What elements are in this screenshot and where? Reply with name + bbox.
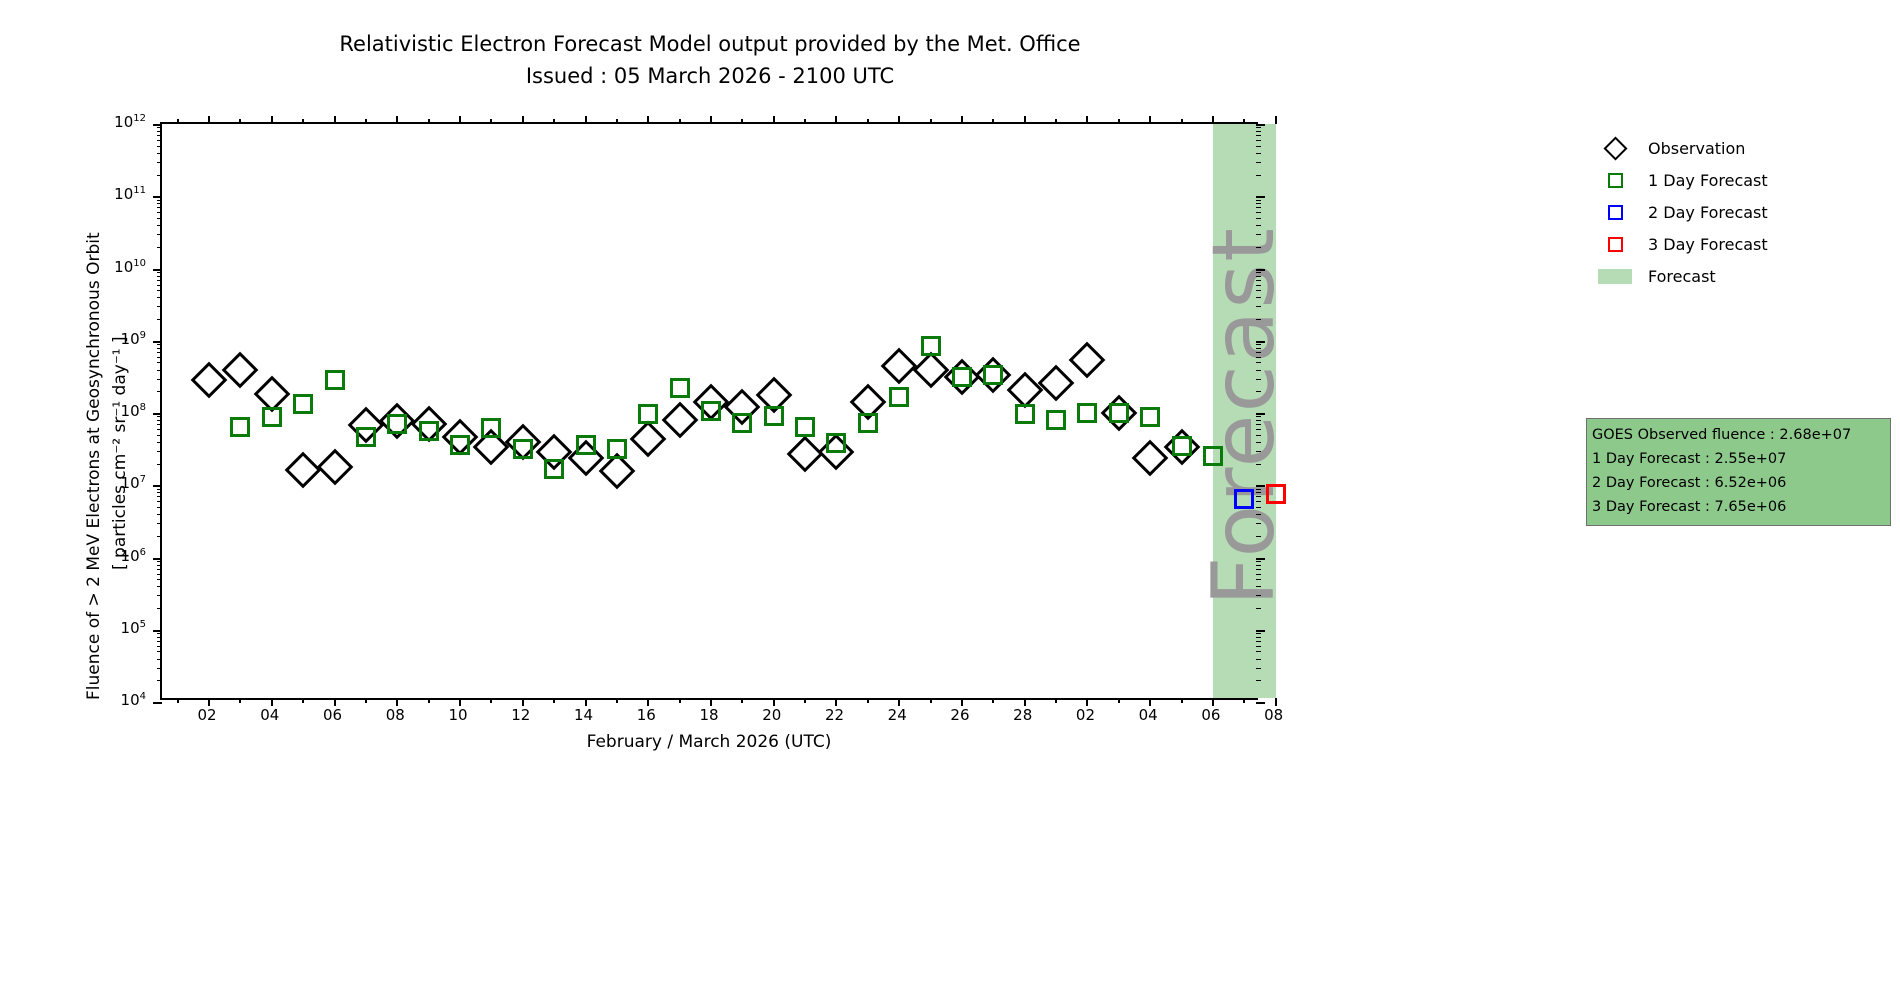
- y-tick-minor-right: [1256, 234, 1261, 235]
- y-tick-minor-right: [1256, 225, 1261, 226]
- x-tick-minor: [679, 698, 681, 703]
- x-tick-minor: [365, 698, 367, 703]
- x-tick-minor: [1055, 698, 1057, 703]
- y-tick-minor-right: [1256, 290, 1261, 291]
- y-tick-minor-right: [1256, 561, 1261, 562]
- y-tick-minor: [157, 492, 162, 493]
- y-tick-minor: [157, 225, 162, 226]
- x-tick-top: [961, 116, 963, 124]
- diamond-icon: [1603, 136, 1627, 160]
- y-tick-minor: [157, 127, 162, 128]
- x-tick-label: 16: [637, 706, 656, 724]
- y-tick-minor: [157, 290, 162, 291]
- y-tick-minor: [157, 218, 162, 219]
- y-tick-minor: [157, 569, 162, 570]
- y-tick-minor-right: [1256, 637, 1261, 638]
- y-tick-minor-right: [1256, 574, 1261, 575]
- forecast-marker: [293, 394, 313, 414]
- fluence-info-box: GOES Observed fluence : 2.68e+071 Day Fo…: [1586, 418, 1891, 526]
- x-tick-minor-top: [992, 119, 994, 124]
- y-tick-minor: [157, 442, 162, 443]
- y-tick-minor: [157, 352, 162, 353]
- y-tick-minor: [157, 146, 162, 147]
- x-tick: [1024, 698, 1026, 706]
- legend-item-diamond-black: Observation: [1592, 132, 1768, 164]
- y-tick-major: [153, 196, 162, 198]
- infobox-line: 3 Day Forecast : 7.65e+06: [1592, 495, 1885, 519]
- y-tick-minor: [157, 212, 162, 213]
- forecast-marker: [1140, 407, 1160, 427]
- y-tick-minor-right: [1256, 306, 1261, 307]
- y-tick-minor: [157, 370, 162, 371]
- x-tick-label: 08: [1264, 706, 1283, 724]
- y-tick-minor-right: [1256, 651, 1261, 652]
- x-tick-top: [1086, 116, 1088, 124]
- legend-label: Forecast: [1638, 267, 1716, 286]
- y-tick-minor: [157, 348, 162, 349]
- y-tick-minor-right: [1256, 348, 1261, 349]
- forecast-marker: [481, 418, 501, 438]
- observation-marker: [787, 436, 824, 473]
- y-tick-minor: [157, 595, 162, 596]
- y-tick-minor-right: [1256, 489, 1261, 490]
- blue-square-icon: [1608, 205, 1623, 220]
- y-tick-major: [153, 124, 162, 126]
- x-tick-minor-top: [1243, 119, 1245, 124]
- x-tick-minor-top: [490, 119, 492, 124]
- x-tick-minor-top: [741, 119, 743, 124]
- observation-marker: [222, 351, 259, 388]
- y-axis-label-line2: [ particles cm⁻² sr⁻¹ day⁻¹ ]: [110, 336, 130, 570]
- y-tick-minor-right: [1256, 247, 1261, 248]
- forecast-marker: [826, 433, 846, 453]
- y-tick-minor: [157, 435, 162, 436]
- y-tick-minor-right: [1256, 608, 1261, 609]
- y-tick-minor-right: [1256, 565, 1261, 566]
- y-tick-minor: [157, 659, 162, 660]
- x-tick-minor: [616, 698, 618, 703]
- x-tick-top: [208, 116, 210, 124]
- y-tick-minor-right: [1256, 680, 1261, 681]
- x-tick-minor-top: [177, 119, 179, 124]
- y-tick-minor-right: [1256, 344, 1261, 345]
- forecast-marker: [764, 406, 784, 426]
- x-tick: [585, 698, 587, 706]
- forecast-patch-icon: [1598, 269, 1632, 284]
- forecast-marker: [230, 417, 250, 437]
- x-tick: [647, 698, 649, 706]
- x-tick: [459, 698, 461, 706]
- y-tick-minor-right: [1256, 175, 1261, 176]
- observation-marker: [1069, 341, 1106, 378]
- forecast-marker: [638, 404, 658, 424]
- y-tick-minor-right: [1256, 391, 1261, 392]
- y-tick-minor: [157, 641, 162, 642]
- x-axis-label: February / March 2026 (UTC): [160, 732, 1258, 752]
- x-tick-top: [1212, 116, 1214, 124]
- observation-marker: [630, 420, 667, 457]
- x-tick-top: [898, 116, 900, 124]
- y-tick-minor-right: [1256, 212, 1261, 213]
- y-tick-minor: [157, 344, 162, 345]
- y-tick-minor-right: [1256, 633, 1261, 634]
- x-tick-top: [334, 116, 336, 124]
- y-tick-minor-right: [1256, 420, 1261, 421]
- x-tick-minor-top: [365, 119, 367, 124]
- y-tick-minor-right: [1256, 442, 1261, 443]
- y-tick-minor-right: [1256, 429, 1261, 430]
- forecast-watermark: Forecast: [1194, 226, 1294, 606]
- legend-item-square-red: 3 Day Forecast: [1592, 228, 1768, 260]
- observation-marker: [285, 451, 322, 488]
- x-tick-label: 26: [950, 706, 969, 724]
- y-tick-minor-right: [1256, 146, 1261, 147]
- y-tick-major-right: [1256, 702, 1265, 704]
- forecast-marker: [952, 367, 972, 387]
- observation-marker: [1132, 439, 1169, 476]
- y-tick-label: 1010: [0, 258, 146, 276]
- y-tick-minor-right: [1256, 352, 1261, 353]
- x-tick-minor: [1118, 698, 1120, 703]
- forecast-marker: [889, 387, 909, 407]
- legend: Observation1 Day Forecast2 Day Forecast3…: [1592, 132, 1768, 292]
- forecast-marker: [544, 459, 564, 479]
- y-tick-major: [153, 485, 162, 487]
- y-tick-major: [153, 630, 162, 632]
- chart-title-line1: Relativistic Electron Forecast Model out…: [0, 28, 1420, 60]
- x-tick-label: 24: [888, 706, 907, 724]
- x-tick-minor: [239, 698, 241, 703]
- x-tick-label: 12: [511, 706, 530, 724]
- y-tick-minor: [157, 501, 162, 502]
- y-tick-minor-right: [1256, 285, 1261, 286]
- y-tick-major-right: [1256, 196, 1265, 198]
- y-tick-minor-right: [1256, 668, 1261, 669]
- y-tick-minor: [157, 523, 162, 524]
- y-tick-minor-right: [1256, 569, 1261, 570]
- x-tick-top: [522, 116, 524, 124]
- x-tick-label: 18: [699, 706, 718, 724]
- y-tick-minor: [157, 319, 162, 320]
- x-tick-minor-top: [679, 119, 681, 124]
- y-tick-minor: [157, 306, 162, 307]
- green-square-icon: [1608, 173, 1623, 188]
- x-tick: [835, 698, 837, 706]
- forecast-marker: [1077, 403, 1097, 423]
- y-tick-minor: [157, 574, 162, 575]
- y-tick-minor: [157, 297, 162, 298]
- x-tick-minor-top: [553, 119, 555, 124]
- y-tick-minor: [157, 579, 162, 580]
- legend-item-patch-green: Forecast: [1592, 260, 1768, 292]
- chart-title: Relativistic Electron Forecast Model out…: [0, 28, 1420, 92]
- y-tick-minor-right: [1256, 641, 1261, 642]
- y-tick-minor-right: [1256, 131, 1261, 132]
- y-tick-minor-right: [1256, 416, 1261, 417]
- x-tick: [1086, 698, 1088, 706]
- legend-label: 3 Day Forecast: [1638, 235, 1768, 254]
- legend-item-square-green: 1 Day Forecast: [1592, 164, 1768, 196]
- chart-title-line2: Issued : 05 March 2026 - 2100 UTC: [0, 60, 1420, 92]
- plot-area: Forecast: [160, 122, 1258, 700]
- forecast-marker: [795, 417, 815, 437]
- legend-key: [1592, 164, 1638, 196]
- y-tick-minor: [157, 200, 162, 201]
- x-tick-top: [647, 116, 649, 124]
- x-tick-minor: [1181, 698, 1183, 703]
- y-tick-major: [153, 269, 162, 271]
- y-tick-label: 107: [0, 474, 146, 492]
- forecast-marker: [1015, 404, 1035, 424]
- infobox-line: GOES Observed fluence : 2.68e+07: [1592, 423, 1885, 447]
- y-tick-minor: [157, 637, 162, 638]
- x-tick-minor: [490, 698, 492, 703]
- legend-key: [1592, 196, 1638, 228]
- y-tick-major-right: [1256, 341, 1265, 343]
- y-tick-minor: [157, 651, 162, 652]
- observation-marker: [191, 361, 228, 398]
- y-tick-minor: [157, 464, 162, 465]
- y-tick-minor: [157, 420, 162, 421]
- x-tick: [773, 698, 775, 706]
- x-tick-top: [835, 116, 837, 124]
- infobox-line: 1 Day Forecast : 2.55e+07: [1592, 447, 1885, 471]
- x-tick-top: [1275, 116, 1277, 124]
- y-tick-minor: [157, 362, 162, 363]
- forecast-marker: [419, 421, 439, 441]
- y-tick-label: 109: [0, 330, 146, 348]
- x-tick-top: [459, 116, 461, 124]
- x-tick-top: [1024, 116, 1026, 124]
- y-tick-label: 108: [0, 402, 146, 420]
- rem-forecast-chart: Relativistic Electron Forecast Model out…: [0, 0, 1900, 1000]
- y-tick-minor: [157, 496, 162, 497]
- forecast-marker: [983, 365, 1003, 385]
- y-tick-minor: [157, 357, 162, 358]
- y-tick-minor-right: [1256, 153, 1261, 154]
- observation-marker: [316, 448, 353, 485]
- y-tick-minor-right: [1256, 127, 1261, 128]
- legend-key: [1592, 132, 1638, 164]
- x-tick-minor: [867, 698, 869, 703]
- y-tick-minor: [157, 207, 162, 208]
- y-tick-major-right: [1256, 269, 1265, 271]
- y-tick-label: 104: [0, 691, 146, 709]
- y-tick-major-right: [1256, 558, 1265, 560]
- x-tick-minor: [1243, 698, 1245, 703]
- forecast-marker: [576, 435, 596, 455]
- y-tick-major: [153, 558, 162, 560]
- forecast-marker: [513, 439, 533, 459]
- x-tick-label: 02: [198, 706, 217, 724]
- y-tick-minor: [157, 131, 162, 132]
- forecast-marker: [607, 439, 627, 459]
- forecast-marker: [1172, 436, 1192, 456]
- x-tick-minor-top: [930, 119, 932, 124]
- y-tick-minor: [157, 391, 162, 392]
- y-tick-minor: [157, 668, 162, 669]
- y-tick-major: [153, 341, 162, 343]
- y-tick-minor-right: [1256, 536, 1261, 537]
- x-tick-minor-top: [428, 119, 430, 124]
- y-tick-major-right: [1256, 485, 1265, 487]
- y-tick-minor: [157, 175, 162, 176]
- y-tick-minor-right: [1256, 357, 1261, 358]
- forecast-marker: [262, 407, 282, 427]
- x-tick: [334, 698, 336, 706]
- x-tick-label: 28: [1013, 706, 1032, 724]
- legend-key: [1592, 228, 1638, 260]
- x-tick-minor-top: [867, 119, 869, 124]
- y-tick-minor: [157, 162, 162, 163]
- y-tick-minor: [157, 507, 162, 508]
- forecast-marker: [1046, 410, 1066, 430]
- forecast-marker: [1203, 446, 1223, 466]
- legend-label: Observation: [1638, 139, 1745, 158]
- x-tick-top: [396, 116, 398, 124]
- y-tick-minor: [157, 203, 162, 204]
- y-tick-minor-right: [1256, 646, 1261, 647]
- y-tick-minor: [157, 416, 162, 417]
- forecast-marker: [858, 413, 878, 433]
- forecast-marker: [1109, 403, 1129, 423]
- y-tick-minor-right: [1256, 579, 1261, 580]
- x-tick-label: 14: [574, 706, 593, 724]
- y-tick-minor: [157, 514, 162, 515]
- y-tick-minor-right: [1256, 659, 1261, 660]
- y-tick-minor-right: [1256, 272, 1261, 273]
- y-tick-minor-right: [1256, 451, 1261, 452]
- legend-item-square-blue: 2 Day Forecast: [1592, 196, 1768, 228]
- y-tick-minor: [157, 561, 162, 562]
- y-tick-minor-right: [1256, 523, 1261, 524]
- x-tick: [396, 698, 398, 706]
- x-tick-minor: [930, 698, 932, 703]
- y-tick-minor-right: [1256, 200, 1261, 201]
- y-tick-label: 1012: [0, 113, 146, 131]
- y-tick-minor: [157, 451, 162, 452]
- infobox-line: 2 Day Forecast : 6.52e+06: [1592, 471, 1885, 495]
- x-tick-top: [271, 116, 273, 124]
- y-tick-minor: [157, 272, 162, 273]
- y-tick-minor-right: [1256, 162, 1261, 163]
- y-tick-minor-right: [1256, 207, 1261, 208]
- x-tick: [208, 698, 210, 706]
- y-tick-label: 105: [0, 619, 146, 637]
- forecast-marker: [1266, 484, 1286, 504]
- forecast-marker: [1234, 489, 1254, 509]
- x-tick-label: 22: [825, 706, 844, 724]
- y-tick-minor-right: [1256, 379, 1261, 380]
- x-tick: [1275, 698, 1277, 706]
- y-tick-major-right: [1256, 630, 1265, 632]
- x-tick-minor: [302, 698, 304, 703]
- y-tick-minor: [157, 536, 162, 537]
- y-tick-minor-right: [1256, 370, 1261, 371]
- x-tick-minor: [553, 698, 555, 703]
- y-tick-minor-right: [1256, 507, 1261, 508]
- y-tick-minor: [157, 646, 162, 647]
- x-tick-minor-top: [302, 119, 304, 124]
- forecast-marker: [701, 401, 721, 421]
- x-tick: [271, 698, 273, 706]
- x-tick-label: 02: [1076, 706, 1095, 724]
- y-tick-minor-right: [1256, 140, 1261, 141]
- y-tick-minor: [157, 140, 162, 141]
- y-tick-minor-right: [1256, 586, 1261, 587]
- red-square-icon: [1608, 237, 1623, 252]
- forecast-marker: [670, 378, 690, 398]
- y-tick-minor-right: [1256, 135, 1261, 136]
- x-tick-minor-top: [1181, 119, 1183, 124]
- x-tick-top: [710, 116, 712, 124]
- observation-marker: [1006, 371, 1043, 408]
- x-tick-minor-top: [1055, 119, 1057, 124]
- y-tick-minor-right: [1256, 496, 1261, 497]
- y-tick-major-right: [1256, 413, 1265, 415]
- observation-marker: [881, 347, 918, 384]
- forecast-marker: [387, 414, 407, 434]
- y-tick-minor: [157, 680, 162, 681]
- observation-marker: [661, 402, 698, 439]
- forecast-marker: [450, 435, 470, 455]
- x-tick-minor: [804, 698, 806, 703]
- y-tick-minor: [157, 153, 162, 154]
- x-tick-label: 06: [1201, 706, 1220, 724]
- y-tick-minor-right: [1256, 280, 1261, 281]
- legend-key: [1592, 260, 1638, 292]
- x-tick-minor-top: [239, 119, 241, 124]
- forecast-marker: [921, 336, 941, 356]
- y-tick-minor-right: [1256, 501, 1261, 502]
- x-tick: [522, 698, 524, 706]
- y-tick-label: 1011: [0, 185, 146, 203]
- observation-marker: [1038, 365, 1075, 402]
- y-tick-minor-right: [1256, 514, 1261, 515]
- x-tick-label: 20: [762, 706, 781, 724]
- y-tick-minor-right: [1256, 203, 1261, 204]
- y-tick-minor: [157, 608, 162, 609]
- x-tick-minor-top: [804, 119, 806, 124]
- x-tick-top: [585, 116, 587, 124]
- forecast-marker: [325, 370, 345, 390]
- y-tick-minor-right: [1256, 319, 1261, 320]
- y-tick-minor-right: [1256, 464, 1261, 465]
- y-tick-minor: [157, 285, 162, 286]
- x-tick-label: 04: [260, 706, 279, 724]
- x-tick: [1149, 698, 1151, 706]
- y-tick-minor: [157, 489, 162, 490]
- x-tick-minor: [177, 698, 179, 703]
- x-tick-label: 06: [323, 706, 342, 724]
- x-tick-minor: [992, 698, 994, 703]
- x-tick-minor: [741, 698, 743, 703]
- y-tick-minor-right: [1256, 435, 1261, 436]
- forecast-marker: [356, 427, 376, 447]
- x-tick: [1212, 698, 1214, 706]
- legend-label: 2 Day Forecast: [1638, 203, 1768, 222]
- y-tick-minor-right: [1256, 595, 1261, 596]
- x-tick-top: [1149, 116, 1151, 124]
- y-tick-major: [153, 702, 162, 704]
- y-tick-minor: [157, 633, 162, 634]
- x-tick-minor-top: [616, 119, 618, 124]
- y-tick-minor: [157, 424, 162, 425]
- y-tick-minor-right: [1256, 218, 1261, 219]
- x-tick: [710, 698, 712, 706]
- y-tick-minor-right: [1256, 297, 1261, 298]
- x-tick: [961, 698, 963, 706]
